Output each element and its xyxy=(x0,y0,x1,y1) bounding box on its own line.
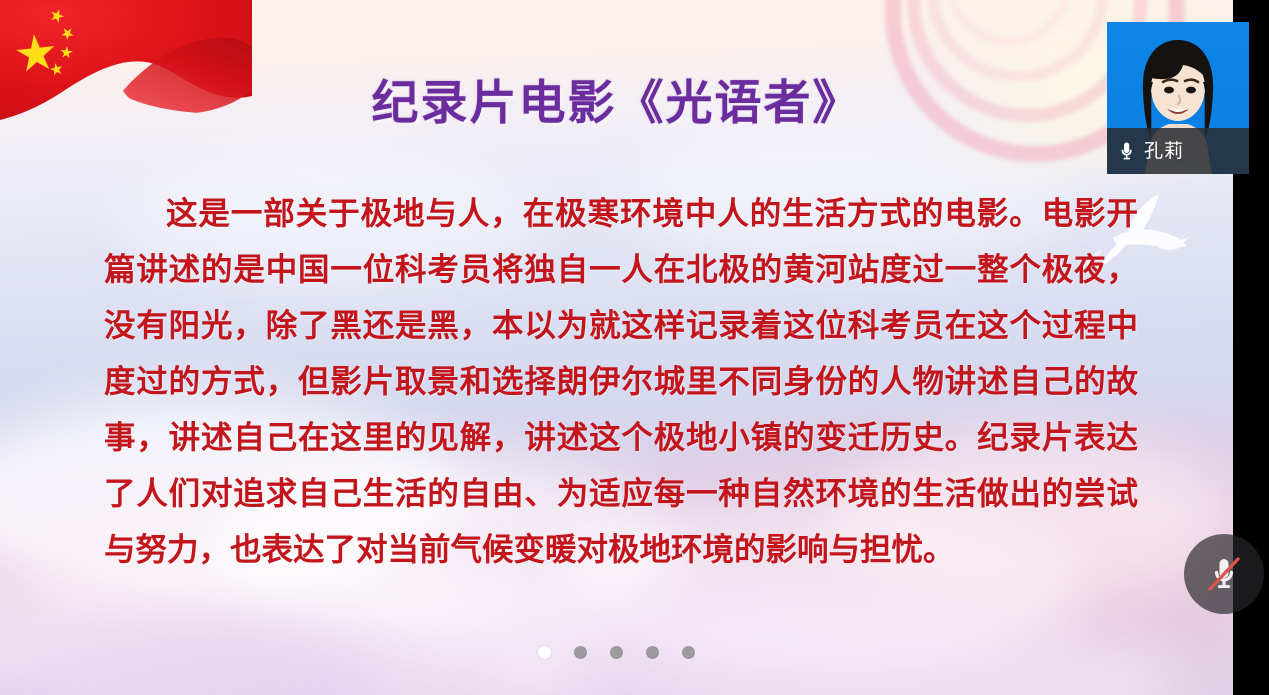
pink-arc-ring-icon xyxy=(945,0,1073,46)
pagination-dot-1[interactable] xyxy=(538,646,551,659)
mute-toggle-button[interactable] xyxy=(1184,534,1264,614)
microphone-icon xyxy=(1120,142,1133,161)
pagination-dot-5[interactable] xyxy=(682,646,695,659)
flag-star-small xyxy=(48,7,66,25)
flag-star-small xyxy=(58,24,76,42)
pagination-dot-4[interactable] xyxy=(646,646,659,659)
participant-name-bar: 孔莉 xyxy=(1107,128,1249,174)
pagination-dot-3[interactable] xyxy=(610,646,623,659)
flag-star-small xyxy=(59,45,73,59)
cloud-decoration xyxy=(0,560,600,695)
pagination-dot-2[interactable] xyxy=(574,646,587,659)
shared-slide-canvas[interactable]: 纪录片电影《光语者》 这是一部关于极地与人，在极寒环境中人的生活方式的电影。电影… xyxy=(0,0,1233,695)
participant-name: 孔莉 xyxy=(1144,142,1184,161)
microphone-muted-icon xyxy=(1201,551,1247,597)
slide-title: 纪录片电影《光语者》 xyxy=(0,64,1233,133)
slide-pagination[interactable] xyxy=(0,646,1233,659)
slide-body-text: 这是一部关于极地与人，在极寒环境中人的生活方式的电影。电影开篇讲述的是中国一位科… xyxy=(104,186,1138,578)
video-conference-window: 纪录片电影《光语者》 这是一部关于极地与人，在极寒环境中人的生活方式的电影。电影… xyxy=(0,0,1269,695)
